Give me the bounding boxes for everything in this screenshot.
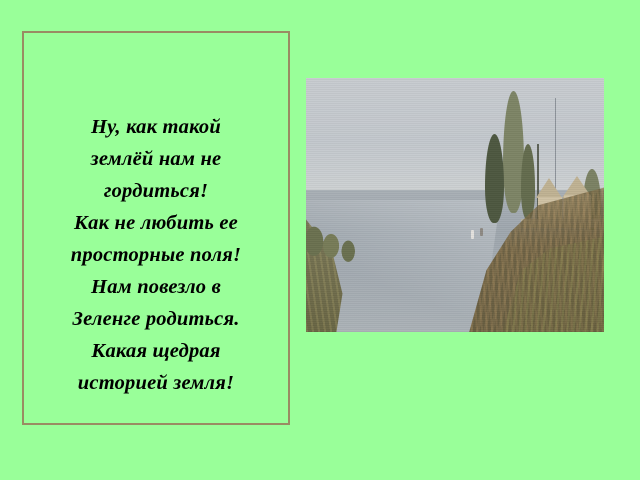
poem-line: Ну, как такой <box>24 111 288 143</box>
poem-line: просторные поля! <box>24 239 288 271</box>
person-figure <box>480 228 483 236</box>
poem-line: Зеленге родиться. <box>24 303 288 335</box>
slide: Ну, как такой землёй нам не гордиться! К… <box>0 0 640 480</box>
poem-line: Нам повезло в <box>24 271 288 303</box>
person-figure <box>471 230 474 239</box>
poem-text-panel: Ну, как такой землёй нам не гордиться! К… <box>22 31 290 425</box>
shrubs <box>306 205 372 271</box>
poem-line: гордиться! <box>24 175 288 207</box>
poem-line: Какая щедрая <box>24 335 288 367</box>
poem-line: землёй нам не <box>24 143 288 175</box>
photo-canvas <box>306 78 604 332</box>
poem-line: историей земля! <box>24 367 288 399</box>
poem-line: Как не любить ее <box>24 207 288 239</box>
landscape-photo <box>306 78 604 332</box>
building-roof <box>536 178 562 198</box>
poem-text: Ну, как такой землёй нам не гордиться! К… <box>24 111 288 399</box>
